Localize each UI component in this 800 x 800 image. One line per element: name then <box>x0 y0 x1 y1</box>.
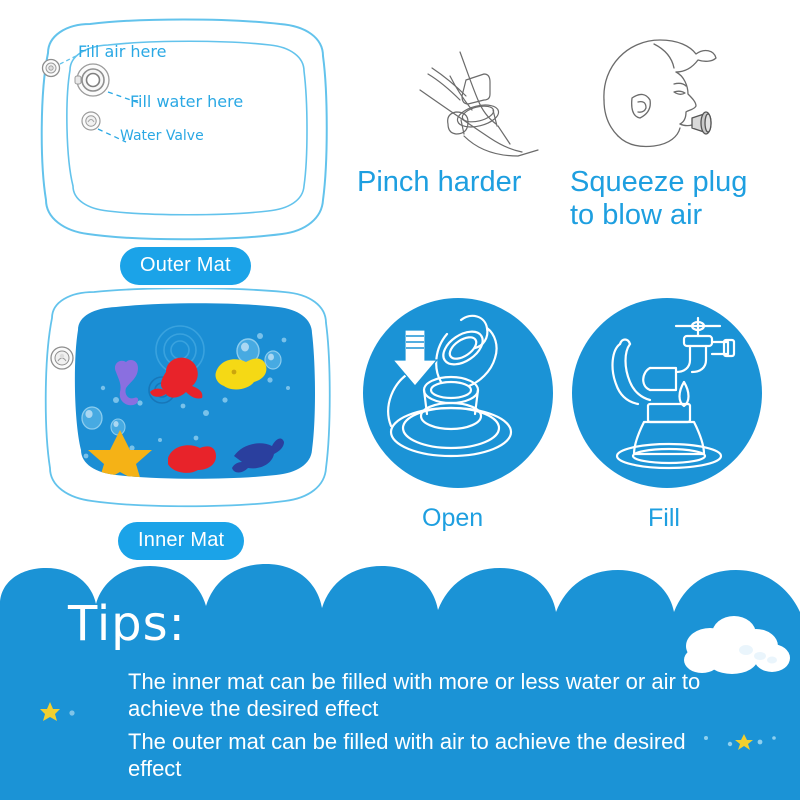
annotation-water-valve: Water Valve <box>120 128 204 144</box>
annotation-fill-air-here: Fill air here <box>78 42 166 61</box>
hand-pinch-valve-icon <box>398 38 573 163</box>
star-decoration-left <box>40 700 80 726</box>
air-valve-icon <box>43 60 60 77</box>
faucet-fill-valve-icon <box>572 298 762 488</box>
valve-open-arrow-icon <box>363 298 553 488</box>
squeeze-plug-label-line1: Squeeze plug <box>570 165 747 199</box>
annotation-fill-water-here: Fill water here <box>130 92 243 111</box>
star-decoration-right <box>700 728 790 754</box>
fill-label: Fill <box>648 504 680 533</box>
tip-line-outer-mat: The outer mat can be filled with air to … <box>128 728 728 782</box>
open-label: Open <box>422 504 483 533</box>
inner-mat-valve-icon <box>51 347 73 369</box>
squeeze-plug-label-line2: to blow air <box>570 198 702 232</box>
head-blowing-plug-icon <box>592 28 752 163</box>
pinch-harder-label: Pinch harder <box>357 165 521 199</box>
water-valve-icon <box>82 112 100 130</box>
tip-line-inner-mat: The inner mat can be filled with more or… <box>128 668 728 722</box>
cloud-decoration <box>676 612 792 682</box>
product-instruction-infographic: Fill air here Fill water here Water Valv… <box>0 0 800 800</box>
tips-title: Tips: <box>68 600 186 648</box>
outer-mat-pill-label: Outer Mat <box>120 247 251 285</box>
inner-mat-pill-label: Inner Mat <box>118 522 244 560</box>
inner-mat-diagram <box>20 288 350 520</box>
